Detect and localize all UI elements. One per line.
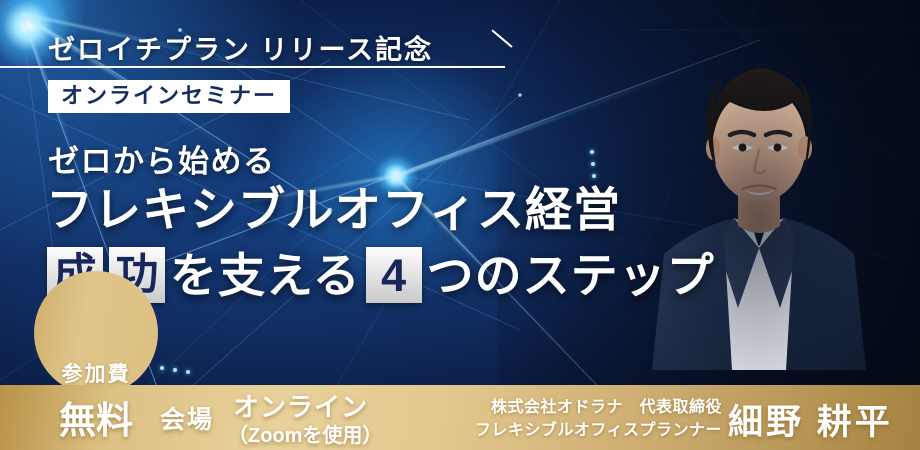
speaker-role-line-2: フレキシブルオフィスプランナー [432,419,722,442]
kicker-text: ゼロイチプラン リリース記念 [48,28,433,67]
boxed-number: 4 [366,247,422,303]
headline-main: フレキシブルオフィス経営 [46,186,621,233]
headline-steps-mid: を支える [168,252,363,299]
speaker-name: 細野 耕平 [728,405,893,440]
speaker-role-line-1: 株式会社オドラナ 代表取締役 [432,396,722,419]
seminar-banner: ゼロイチプラン リリース記念 オンラインセミナー ゼロから始める フレキシブルオ… [0,0,920,450]
headline-sub: ゼロから始める [48,136,276,181]
online-seminar-badge: オンラインセミナー [48,80,290,113]
headline-steps-tail: つのステップ [425,252,717,299]
fee-label: 参加費 [50,358,142,388]
fee-value: 無料 [46,401,146,442]
venue-note: （Zoomを使用） [228,426,382,446]
speaker-role: 株式会社オドラナ 代表取締役 フレキシブルオフィスプランナー [432,396,722,442]
kicker-underline [0,66,505,68]
venue-value: オンライン [233,394,368,420]
venue-label: 会場 [160,400,214,436]
presenter-portrait [634,40,884,370]
portrait-backdrop-glow [634,40,884,370]
